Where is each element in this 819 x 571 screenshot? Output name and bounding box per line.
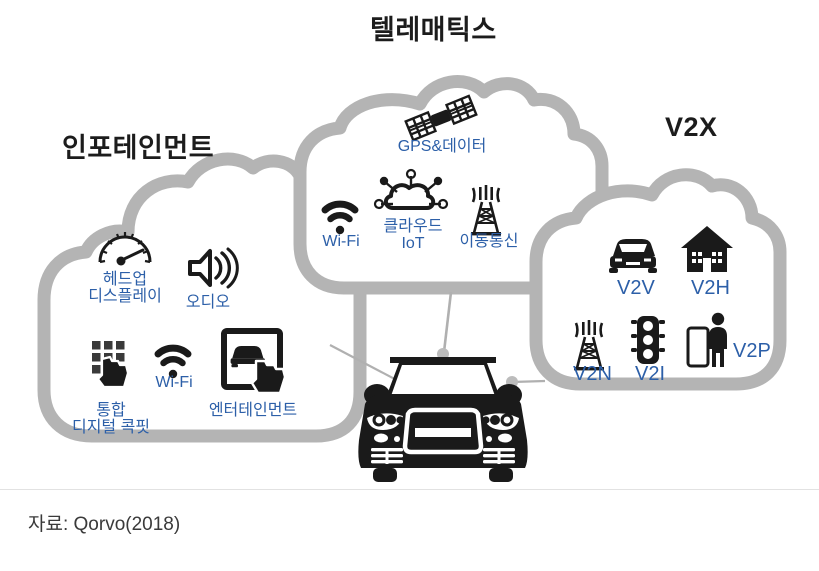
label-wifi-infotainment: Wi-Fi <box>148 375 200 392</box>
label-v2h: V2H <box>691 277 730 300</box>
label-v2p: V2P <box>733 340 771 363</box>
label-head-up-display: 헤드업 디스플레이 <box>67 272 183 306</box>
label-v2n: V2N <box>573 363 612 386</box>
cloud-title-telematics: 텔레매틱스 <box>370 8 497 47</box>
label-v2i: V2I <box>635 363 665 386</box>
source-note: 자료: Qorvo(2018) <box>28 509 180 536</box>
label-v2v: V2V <box>617 277 655 300</box>
footer-divider <box>0 489 819 490</box>
label-wifi-telematics: Wi-Fi <box>315 234 367 251</box>
cloud-title-v2x: V2X <box>665 112 718 143</box>
cloud-title-infotainment: 인포테인먼트 <box>62 126 214 165</box>
label-mobile-comm: 이동통신 <box>453 234 525 251</box>
label-entertainment: 엔터테인먼트 <box>193 403 313 420</box>
label-gps-data: GPS&데이터 <box>388 139 496 156</box>
diagram-canvas: 인포테인먼트 텔레매틱스 V2X 헤드업 디스플레이 오디오 통합 디지털 콕핏… <box>0 0 819 571</box>
label-digital-cockpit: 통합 디지털 콕핏 <box>53 403 169 437</box>
car-front-silhouette-icon <box>358 357 527 482</box>
label-cloud-iot: 클라우드 IoT <box>383 219 443 253</box>
label-audio: 오디오 <box>178 295 238 312</box>
